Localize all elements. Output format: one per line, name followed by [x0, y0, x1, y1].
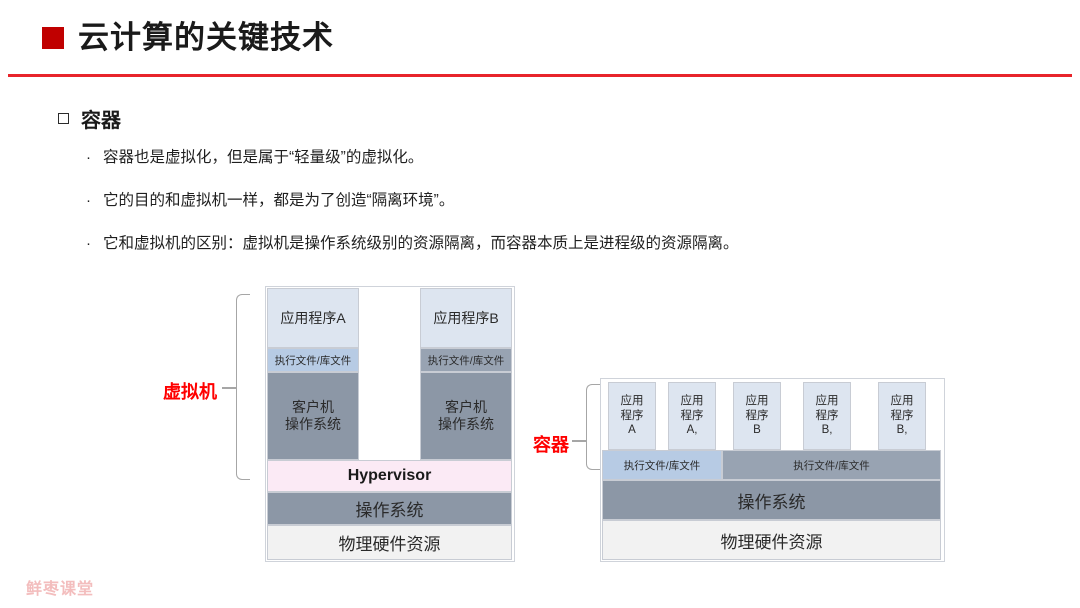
vm-app-a-box: 应用程序A — [267, 288, 359, 348]
container-app-line3: B — [753, 423, 761, 438]
container-app-box: 应用 程序 A — [608, 382, 656, 450]
container-app-line1: 应用 — [681, 394, 704, 409]
bullet-dot-icon: · — [86, 148, 91, 168]
container-app-line1: 应用 — [746, 394, 769, 409]
bullet-dot-icon: · — [86, 234, 91, 254]
page-title: 云计算的关键技术 — [78, 22, 334, 53]
architecture-diagrams: 虚拟机 应用程序A 执行文件/库文件 客户机 操作系统 应用程序B 执行文件/库… — [0, 286, 1080, 576]
container-app-box: 应用 程序 A, — [668, 382, 716, 450]
list-item: · 它和虚拟机的区别：虚拟机是操作系统级别的资源隔离，而容器本质上是进程级的资源… — [86, 234, 1046, 255]
vm-guest-os-b-line2: 操作系统 — [438, 416, 494, 434]
section-heading-label: 容器 — [81, 104, 121, 133]
container-lib-right-box: 执行文件/库文件 — [722, 450, 941, 480]
container-app-box: 应用 程序 B, — [878, 382, 926, 450]
container-hardware-box: 物理硬件资源 — [602, 520, 941, 560]
container-bracket-stem — [572, 440, 586, 442]
container-app-line3: A, — [687, 423, 698, 438]
vm-host-os-box: 操作系统 — [267, 492, 512, 525]
vm-lib-b-box: 执行文件/库文件 — [420, 348, 512, 372]
container-app-box: 应用 程序 B — [733, 382, 781, 450]
vm-guest-os-a-box: 客户机 操作系统 — [267, 372, 359, 460]
container-app-line2: 程序 — [746, 409, 769, 424]
vm-guest-os-a-line1: 客户机 — [292, 399, 334, 417]
container-app-prime-mark: , — [904, 424, 907, 436]
vm-diagram: 应用程序A 执行文件/库文件 客户机 操作系统 应用程序B 执行文件/库文件 客… — [265, 286, 515, 562]
vm-hardware-box: 物理硬件资源 — [267, 525, 512, 560]
vm-bracket-stem — [222, 387, 236, 389]
title-divider — [8, 74, 1072, 77]
vm-lib-a-box: 执行文件/库文件 — [267, 348, 359, 372]
container-app-line3: B, — [822, 423, 833, 438]
vm-bracket — [236, 294, 250, 480]
container-app-line1: 应用 — [621, 394, 644, 409]
bullet-list: · 容器也是虚拟化，但是属于“轻量级”的虚拟化。 · 它的目的和虚拟机一样，都是… — [86, 148, 1046, 277]
container-app-line1: 应用 — [816, 394, 839, 409]
list-item: · 容器也是虚拟化，但是属于“轻量级”的虚拟化。 — [86, 148, 1046, 169]
container-app-line2: 程序 — [681, 409, 704, 424]
section-bullet-icon — [58, 113, 69, 124]
container-lib-left-box: 执行文件/库文件 — [602, 450, 722, 480]
footer-logo: 鲜枣课堂 — [26, 575, 94, 599]
list-item-text: 容器也是虚拟化，但是属于“轻量级”的虚拟化。 — [103, 148, 423, 169]
container-app-line2: 程序 — [621, 409, 644, 424]
container-app-line3: A — [628, 423, 636, 438]
vm-app-b-box: 应用程序B — [420, 288, 512, 348]
container-app-prime-mark: , — [694, 424, 697, 436]
container-app-line2: 程序 — [816, 409, 839, 424]
container-label: 容器 — [533, 431, 569, 457]
vm-label: 虚拟机 — [163, 378, 217, 404]
vm-hypervisor-box: Hypervisor — [267, 460, 512, 492]
list-item-text: 它的目的和虚拟机一样，都是为了创造“隔离环境”。 — [103, 191, 454, 212]
container-bracket — [586, 384, 600, 470]
container-app-box: 应用 程序 B, — [803, 382, 851, 450]
list-item: · 它的目的和虚拟机一样，都是为了创造“隔离环境”。 — [86, 191, 1046, 212]
container-app-line3: B, — [897, 423, 908, 438]
vm-guest-os-b-line1: 客户机 — [445, 399, 487, 417]
container-host-os-box: 操作系统 — [602, 480, 941, 520]
container-app-prime-mark: , — [829, 424, 832, 436]
slide-title: 云计算的关键技术 — [42, 22, 334, 53]
container-app-line2: 程序 — [891, 409, 914, 424]
container-diagram: 应用 程序 A 应用 程序 A, 应用 程序 B 应用 程序 B, 应用 程序 … — [600, 378, 945, 562]
vm-guest-os-a-line2: 操作系统 — [285, 416, 341, 434]
section-heading: 容器 — [58, 104, 121, 133]
list-item-text: 它和虚拟机的区别：虚拟机是操作系统级别的资源隔离，而容器本质上是进程级的资源隔离… — [103, 234, 739, 255]
container-app-line1: 应用 — [891, 394, 914, 409]
bullet-dot-icon: · — [86, 191, 91, 211]
title-bullet-icon — [42, 27, 64, 49]
vm-guest-os-b-box: 客户机 操作系统 — [420, 372, 512, 460]
